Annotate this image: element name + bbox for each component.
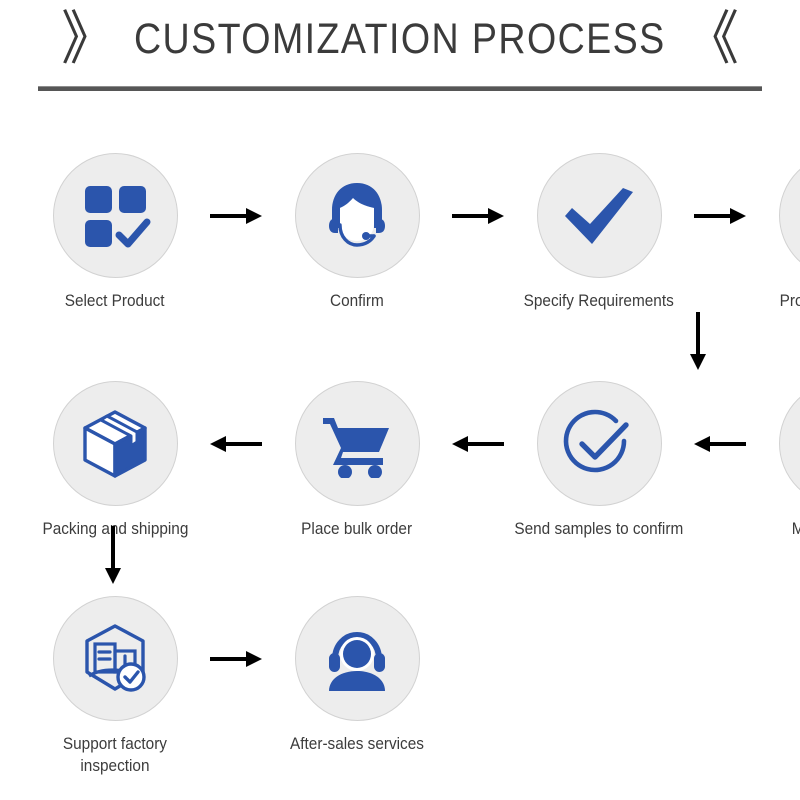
step-label: Place bulk order [302,519,413,541]
step-label: Specify Requirements [524,291,674,313]
step-select-product[interactable]: Select Product [22,153,208,313]
step-label: Confirm [330,291,384,313]
process-flow: Select Product Confirm [0,91,800,791]
step-specify-requirements[interactable]: Specify Requirements [506,153,692,313]
arrow-left-icon [450,381,506,506]
arrow-right-icon [692,153,748,278]
step-place-bulk-order[interactable]: Place bulk order [264,381,450,541]
step-icon-bubble [295,381,420,506]
package-box-icon [77,408,153,480]
arrow-down-icon [689,312,707,370]
step-icon-bubble [779,153,800,278]
step-label: Send samples to confirm [515,519,684,541]
step-make-samples[interactable]: Make samples [748,381,800,541]
step-support-factory-inspection[interactable]: Support factory inspection [22,596,208,778]
process-row-1: Select Product Confirm [0,153,800,313]
support-agent-icon [319,625,395,693]
step-icon-bubble [53,153,178,278]
process-row-2: Packing and shipping Place bulk order [0,381,800,541]
step-icon-bubble [779,381,800,506]
step-provide-quotation[interactable]: Provide Quotation [748,153,800,313]
checkmark-icon [561,178,637,254]
step-confirm[interactable]: Confirm [264,153,450,313]
circle-check-icon [562,407,636,481]
arrow-right-icon [208,596,264,721]
step-after-sales-services[interactable]: After-sales services [264,596,450,756]
step-packing-and-shipping[interactable]: Packing and shipping [22,381,208,541]
title-row: 》 CUSTOMIZATION PROCESS 《 [0,8,800,70]
arrow-right-icon [208,153,264,278]
step-icon-bubble [53,381,178,506]
row2-to-row3-connector [93,523,133,587]
process-row-3: Support factory inspection After-sales s… [0,596,800,778]
operator-headset-icon [320,179,394,253]
step-send-samples-to-confirm[interactable]: Send samples to confirm [506,381,692,541]
step-label: Support factory inspection [63,734,167,778]
step-label: Provide Quotation [780,291,800,313]
arrow-right-icon [450,153,506,278]
arrow-left-icon [208,381,264,506]
step-icon-bubble [537,153,662,278]
step-icon-bubble [537,381,662,506]
step-icon-bubble [53,596,178,721]
page-title: CUSTOMIZATION PROCESS [134,15,666,63]
grid-check-icon [79,180,151,252]
page-header: 》 CUSTOMIZATION PROCESS 《 [0,0,800,91]
step-icon-bubble [295,596,420,721]
step-label: Select Product [65,291,165,313]
row1-to-row2-connector [678,309,718,373]
factory-inspection-icon [77,622,153,696]
chevron-right-double-icon: 》 [61,10,115,68]
step-label: Make samples [792,519,800,541]
shopping-cart-icon [321,410,393,478]
arrow-left-icon [692,381,748,506]
step-icon-bubble [295,153,420,278]
step-label: After-sales services [290,734,424,756]
chevron-left-double-icon: 《 [685,10,739,68]
arrow-down-icon [104,526,122,584]
